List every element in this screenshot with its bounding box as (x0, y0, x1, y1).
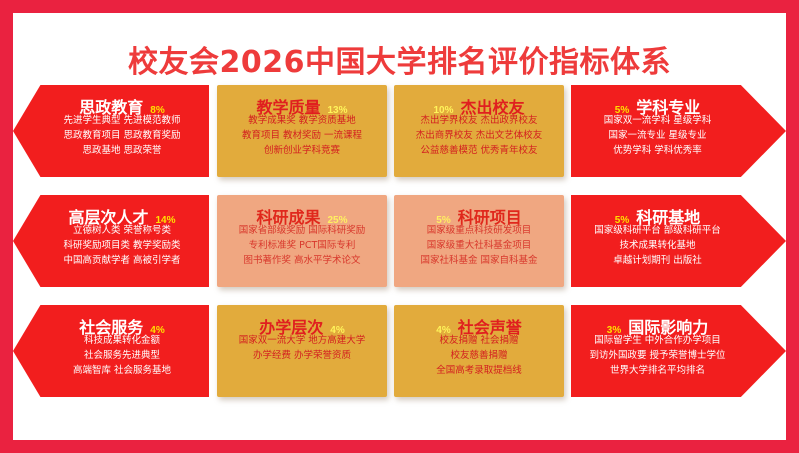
poster-inner: 校友会2026中国大学排名评价指标体系 思政教育8%先进学生典型 先进模范教师思… (13, 13, 786, 440)
card-items: 立德树人类 荣誉称号类科研奖励项目类 教学奖励类中国高贡献学者 高被引学者 (13, 219, 209, 268)
card-item-line: 先进学生典型 先进模范教师 (35, 113, 209, 128)
card-header: 思政教育8% (13, 85, 209, 109)
card-item-line: 办学经费 办学荣誉资质 (217, 348, 387, 363)
card-header: 5%科研项目 (394, 195, 564, 219)
card-item-line: 优势学科 学科优秀率 (571, 143, 744, 158)
card-item-line: 杰出学界校友 杰出政界校友 (394, 113, 564, 128)
card-item-line: 教育项目 教材奖励 一流课程 (217, 128, 387, 143)
card-items: 国家级科研平台 部级科研平台技术成果转化基地卓越计划期刊 出版社 (571, 219, 786, 268)
card-item-line: 校友慈善捐赠 (394, 348, 564, 363)
card-item-line: 国家双一流大学 地方高建大学 (217, 333, 387, 348)
card-item-line: 世界大学排名平均排名 (571, 363, 744, 378)
card-item-line: 高端智库 社会服务基地 (35, 363, 209, 378)
card-item-line: 到访外国政要 授予荣誉博士学位 (571, 348, 744, 363)
card-items: 国际留学生 中外合作办学项目到访外国政要 授予荣誉博士学位世界大学排名平均排名 (571, 329, 786, 378)
card-header: 3%国际影响力 (571, 305, 786, 329)
card-item-line: 国际留学生 中外合作办学项目 (571, 333, 744, 348)
card-item-line: 专利标准奖 PCT国际专利 (217, 238, 387, 253)
card-item-line: 公益慈善模范 优秀青年校友 (394, 143, 564, 158)
card-item-line: 国家一流专业 星级专业 (571, 128, 744, 143)
card-item-line: 卓越计划期刊 出版社 (571, 253, 744, 268)
card-item-line: 国家社科基金 国家自科基金 (394, 253, 564, 268)
card-item-line: 校友捐赠 社会捐赠 (394, 333, 564, 348)
indicator-card-disciplines-and-majors[interactable]: 5%学科专业国家双一流学科 星级学科国家一流专业 星级专业优势学科 学科优秀率 (571, 85, 786, 177)
card-item-line: 教学成果奖 教学资质基地 (217, 113, 387, 128)
card-item-line: 立德树人类 荣誉称号类 (35, 223, 209, 238)
card-items: 先进学生典型 先进模范教师思政教育项目 思政教育奖励思政基地 思政荣誉 (13, 109, 209, 158)
indicator-card-social-services[interactable]: 社会服务4%科技成果转化金额社会服务先进典型高端智库 社会服务基地 (13, 305, 209, 397)
indicator-row: 高层次人才14%立德树人类 荣誉称号类科研奖励项目类 教学奖励类中国高贡献学者 … (13, 195, 786, 299)
indicator-card-research-achievements[interactable]: 科研成果25%国家省部级奖励 国际科研奖励专利标准奖 PCT国际专利图书著作奖 … (217, 195, 387, 287)
card-header: 教学质量13% (217, 85, 387, 109)
card-header: 社会服务4% (13, 305, 209, 329)
card-items: 教学成果奖 教学资质基地教育项目 教材奖励 一流课程创新创业学科竞赛 (217, 109, 387, 158)
card-item-line: 图书著作奖 高水平学术论文 (217, 253, 387, 268)
card-item-line: 国家双一流学科 星级学科 (571, 113, 744, 128)
indicator-card-outstanding-alumni[interactable]: 10%杰出校友杰出学界校友 杰出政界校友杰出商界校友 杰出文艺体校友公益慈善模范… (394, 85, 564, 177)
card-items: 科技成果转化金额社会服务先进典型高端智库 社会服务基地 (13, 329, 209, 378)
card-header: 4%社会声誉 (394, 305, 564, 329)
indicator-card-international-influence[interactable]: 3%国际影响力国际留学生 中外合作办学项目到访外国政要 授予荣誉博士学位世界大学… (571, 305, 786, 397)
card-item-line: 科研奖励项目类 教学奖励类 (35, 238, 209, 253)
card-items: 国家双一流学科 星级学科国家一流专业 星级专业优势学科 学科优秀率 (571, 109, 786, 158)
card-item-line: 思政基地 思政荣誉 (35, 143, 209, 158)
card-item-line: 国家省部级奖励 国际科研奖励 (217, 223, 387, 238)
card-header: 办学层次4% (217, 305, 387, 329)
page-title: 校友会2026中国大学排名评价指标体系 (13, 37, 786, 81)
card-item-line: 国家级重点科技研发项目 (394, 223, 564, 238)
card-items: 杰出学界校友 杰出政界校友杰出商界校友 杰出文艺体校友公益慈善模范 优秀青年校友 (394, 109, 564, 158)
indicator-card-research-bases[interactable]: 5%科研基地国家级科研平台 部级科研平台技术成果转化基地卓越计划期刊 出版社 (571, 195, 786, 287)
card-items: 国家级重点科技研发项目国家级重大社科基金项目国家社科基金 国家自科基金 (394, 219, 564, 268)
indicator-row: 思政教育8%先进学生典型 先进模范教师思政教育项目 思政教育奖励思政基地 思政荣… (13, 85, 786, 189)
card-item-line: 杰出商界校友 杰出文艺体校友 (394, 128, 564, 143)
card-item-line: 全国高考录取提档线 (394, 363, 564, 378)
indicator-card-social-reputation[interactable]: 4%社会声誉校友捐赠 社会捐赠校友慈善捐赠全国高考录取提档线 (394, 305, 564, 397)
card-item-line: 科技成果转化金额 (35, 333, 209, 348)
card-items: 国家省部级奖励 国际科研奖励专利标准奖 PCT国际专利图书著作奖 高水平学术论文 (217, 219, 387, 268)
card-header: 10%杰出校友 (394, 85, 564, 109)
card-header: 高层次人才14% (13, 195, 209, 219)
indicator-card-high-level-talent[interactable]: 高层次人才14%立德树人类 荣誉称号类科研奖励项目类 教学奖励类中国高贡献学者 … (13, 195, 209, 287)
indicator-grid: 思政教育8%先进学生典型 先进模范教师思政教育项目 思政教育奖励思政基地 思政荣… (13, 85, 786, 415)
card-item-line: 国家级重大社科基金项目 (394, 238, 564, 253)
card-items: 校友捐赠 社会捐赠校友慈善捐赠全国高考录取提档线 (394, 329, 564, 378)
card-item-line: 思政教育项目 思政教育奖励 (35, 128, 209, 143)
card-item-line: 中国高贡献学者 高被引学者 (35, 253, 209, 268)
card-header: 科研成果25% (217, 195, 387, 219)
poster-frame: 校友会2026中国大学排名评价指标体系 思政教育8%先进学生典型 先进模范教师思… (0, 0, 799, 453)
indicator-card-school-running-level[interactable]: 办学层次4%国家双一流大学 地方高建大学办学经费 办学荣誉资质 (217, 305, 387, 397)
card-items: 国家双一流大学 地方高建大学办学经费 办学荣誉资质 (217, 329, 387, 363)
indicator-card-teaching-quality[interactable]: 教学质量13%教学成果奖 教学资质基地教育项目 教材奖励 一流课程创新创业学科竞… (217, 85, 387, 177)
card-item-line: 创新创业学科竞赛 (217, 143, 387, 158)
indicator-card-ideological-political-education[interactable]: 思政教育8%先进学生典型 先进模范教师思政教育项目 思政教育奖励思政基地 思政荣… (13, 85, 209, 177)
card-item-line: 技术成果转化基地 (571, 238, 744, 253)
indicator-row: 社会服务4%科技成果转化金额社会服务先进典型高端智库 社会服务基地办学层次4%国… (13, 305, 786, 409)
card-header: 5%科研基地 (571, 195, 786, 219)
indicator-card-research-projects[interactable]: 5%科研项目国家级重点科技研发项目国家级重大社科基金项目国家社科基金 国家自科基… (394, 195, 564, 287)
card-item-line: 社会服务先进典型 (35, 348, 209, 363)
card-header: 5%学科专业 (571, 85, 786, 109)
card-item-line: 国家级科研平台 部级科研平台 (571, 223, 744, 238)
